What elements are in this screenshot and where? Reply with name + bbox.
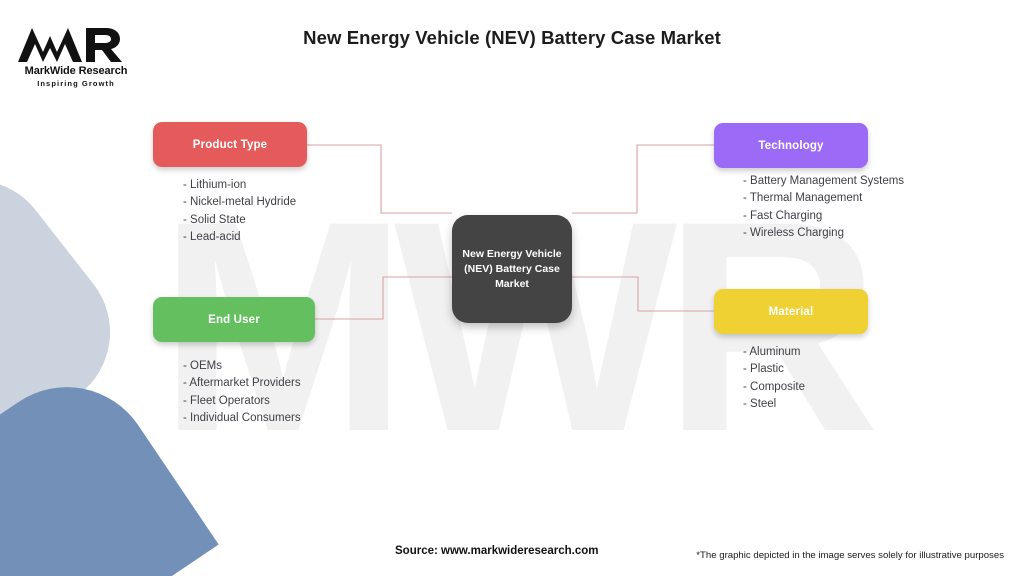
logo-tagline: Inspiring Growth: [16, 79, 136, 88]
list-item: - Solid State: [183, 212, 296, 229]
list-item: - Lead-acid: [183, 229, 296, 246]
connector-product-type: [307, 145, 452, 213]
list-item: - Nickel-metal Hydride: [183, 194, 296, 211]
list-item: - Wireless Charging: [743, 225, 904, 242]
connector-end-user: [315, 277, 452, 319]
list-item: - Steel: [743, 396, 805, 413]
branch-node-material[interactable]: Material: [714, 289, 868, 334]
list-item: - Lithium-ion: [183, 177, 296, 194]
list-item: - Aluminum: [743, 344, 805, 361]
branch-label-technology: Technology: [758, 140, 823, 152]
branch-label-material: Material: [769, 306, 814, 318]
list-item: - Fleet Operators: [183, 393, 301, 410]
branch-items-technology: - Battery Management Systems - Thermal M…: [743, 173, 904, 242]
branch-items-end-user: - OEMs - Aftermarket Providers - Fleet O…: [183, 358, 301, 427]
center-node-label: New Energy Vehicle (NEV) Battery Case Ma…: [461, 247, 563, 292]
list-item: - Thermal Management: [743, 190, 904, 207]
center-node[interactable]: New Energy Vehicle (NEV) Battery Case Ma…: [452, 215, 572, 323]
list-item: - Plastic: [743, 361, 805, 378]
branch-items-product-type: - Lithium-ion - Nickel-metal Hydride - S…: [183, 177, 296, 246]
list-item: - OEMs: [183, 358, 301, 375]
branch-label-product-type: Product Type: [193, 139, 267, 151]
connector-material: [572, 277, 714, 311]
diagram-canvas: MWR MarkWide Research Inspiring Growth N…: [0, 0, 1024, 576]
branch-items-material: - Aluminum - Plastic - Composite - Steel: [743, 344, 805, 413]
branch-label-end-user: End User: [208, 314, 260, 326]
branch-node-technology[interactable]: Technology: [714, 123, 868, 168]
source-text: Source: www.markwideresearch.com: [395, 545, 598, 557]
branch-node-end-user[interactable]: End User: [153, 297, 315, 342]
page-title: New Energy Vehicle (NEV) Battery Case Ma…: [0, 27, 1024, 49]
list-item: - Fast Charging: [743, 208, 904, 225]
list-item: - Individual Consumers: [183, 410, 301, 427]
connector-technology: [572, 145, 714, 213]
list-item: - Battery Management Systems: [743, 173, 904, 190]
branch-node-product-type[interactable]: Product Type: [153, 122, 307, 167]
logo-company-name: MarkWide Research: [16, 65, 136, 77]
list-item: - Aftermarket Providers: [183, 375, 301, 392]
disclaimer-text: *The graphic depicted in the image serve…: [696, 550, 1004, 561]
list-item: - Composite: [743, 379, 805, 396]
